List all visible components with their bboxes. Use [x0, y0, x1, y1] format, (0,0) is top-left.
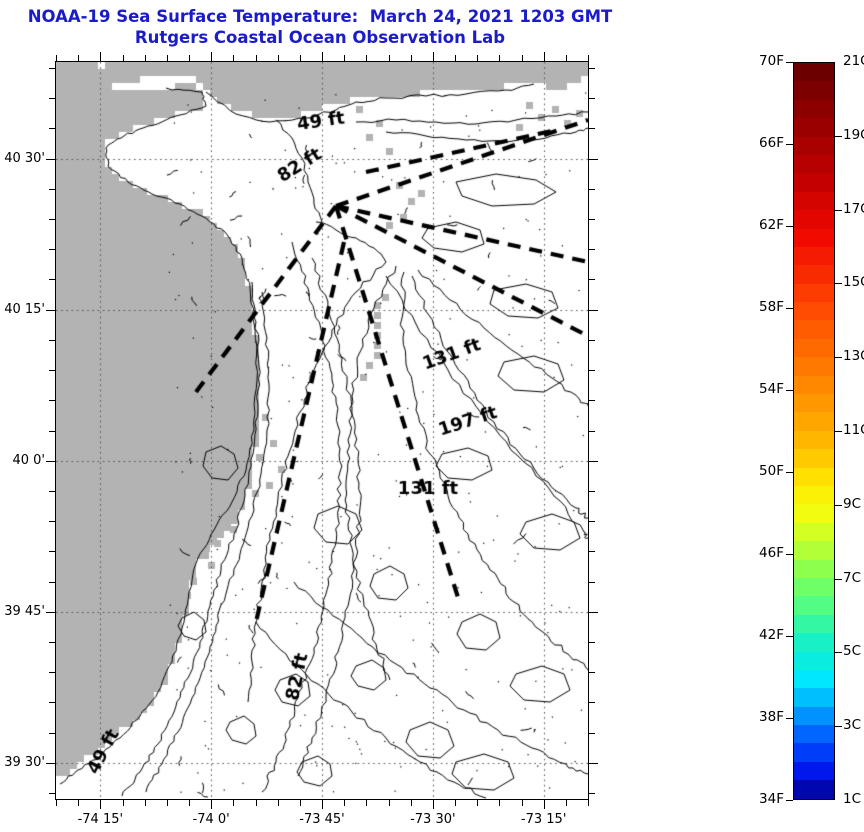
colorbar-label-celsius: 17C: [843, 201, 864, 217]
colorbar-tick: [786, 390, 793, 391]
x-axis-tick: [211, 800, 212, 809]
colorbar-label-fahrenheit: 42F: [738, 627, 784, 643]
y-axis-tick: [46, 461, 55, 462]
colorbar-band: [794, 541, 834, 559]
colorbar-label-fahrenheit: 54F: [738, 381, 784, 397]
colorbar-label-fahrenheit: 66F: [738, 135, 784, 151]
x-axis-tick: [189, 55, 190, 61]
x-axis-tick: [233, 55, 234, 61]
y-axis-tick: [49, 521, 55, 522]
colorbar-band: [794, 229, 834, 247]
colorbar-band: [794, 468, 834, 486]
colorbar-tick: [835, 431, 842, 432]
y-axis-tick: [49, 279, 55, 280]
x-axis-tick: [433, 800, 434, 809]
colorbar-label-celsius: 1C: [843, 791, 861, 807]
y-axis-tick: [49, 642, 55, 643]
colorbar-band: [794, 173, 834, 191]
x-axis-label: -74 15': [55, 812, 145, 827]
x-axis-tick: [56, 800, 57, 806]
y-axis-tick: [46, 763, 55, 764]
colorbar-band: [794, 339, 834, 357]
colorbar-band: [794, 63, 834, 81]
y-axis-tick: [49, 733, 55, 734]
colorbar-label-fahrenheit: 46F: [738, 545, 784, 561]
colorbar-band: [794, 247, 834, 265]
colorbar-tick: [835, 505, 842, 506]
y-axis-tick: [589, 582, 595, 583]
y-axis-label: 39 45': [0, 604, 45, 619]
colorbar-band: [794, 100, 834, 118]
colorbar-band: [794, 210, 834, 228]
y-axis-tick: [589, 370, 595, 371]
colorbar-band: [794, 596, 834, 614]
colorbar-label-celsius: 7C: [843, 570, 861, 586]
colorbar-band: [794, 155, 834, 173]
x-axis-tick: [322, 52, 323, 61]
colorbar-label-celsius: 9C: [843, 496, 861, 512]
colorbar-tick: [786, 800, 793, 801]
colorbar-band: [794, 265, 834, 283]
colorbar-label-celsius: 15C: [843, 274, 864, 290]
colorbar-band: [794, 725, 834, 743]
map-canvas: [56, 62, 588, 799]
y-axis-label: 40 15': [0, 302, 45, 317]
y-axis-tick: [589, 310, 598, 311]
colorbar-tick: [786, 308, 793, 309]
title-line-2: Rutgers Coastal Ocean Observation Lab: [0, 27, 640, 48]
colorbar-band: [794, 284, 834, 302]
colorbar-tick: [835, 136, 842, 137]
colorbar-gradient: [794, 63, 834, 799]
y-axis-tick: [589, 793, 595, 794]
colorbar-band: [794, 615, 834, 633]
colorbar-label-fahrenheit: 70F: [738, 53, 784, 69]
y-axis-tick: [589, 189, 595, 190]
colorbar-label-celsius: 19C: [843, 127, 864, 143]
colorbar-tick: [835, 726, 842, 727]
x-axis-tick: [100, 800, 101, 809]
x-axis-tick: [499, 800, 500, 806]
y-axis-tick: [589, 491, 595, 492]
y-axis-tick: [589, 521, 595, 522]
colorbar-band: [794, 431, 834, 449]
colorbar-band: [794, 357, 834, 375]
x-axis-label: -74 0': [166, 812, 256, 827]
colorbar-tick: [835, 283, 842, 284]
x-axis-tick: [344, 55, 345, 61]
x-axis-tick: [278, 800, 279, 806]
page-title: NOAA-19 Sea Surface Temperature: March 2…: [0, 6, 640, 48]
colorbar-band: [794, 743, 834, 761]
colorbar-band: [794, 376, 834, 394]
y-axis-tick: [49, 249, 55, 250]
y-axis-tick: [589, 461, 598, 462]
x-axis-tick: [78, 55, 79, 61]
x-axis-tick: [123, 55, 124, 61]
colorbar-label-celsius: 13C: [843, 348, 864, 364]
y-axis-tick: [589, 340, 595, 341]
y-axis-tick: [46, 159, 55, 160]
x-axis-tick: [123, 800, 124, 806]
x-axis-tick: [145, 55, 146, 61]
x-axis-tick: [278, 55, 279, 61]
colorbar-label-fahrenheit: 58F: [738, 299, 784, 315]
x-axis-tick: [233, 800, 234, 806]
colorbar-band: [794, 486, 834, 504]
x-axis-tick: [300, 800, 301, 806]
x-axis-tick: [499, 55, 500, 61]
colorbar-band: [794, 320, 834, 338]
y-axis-tick: [49, 400, 55, 401]
x-axis-label: -73 30': [388, 812, 478, 827]
x-axis-tick: [256, 800, 257, 806]
y-axis-tick: [49, 98, 55, 99]
colorbar-tick: [786, 718, 793, 719]
y-axis-tick: [589, 763, 598, 764]
colorbar-tick: [835, 210, 842, 211]
temperature-colorbar: [793, 62, 835, 800]
x-axis-tick: [433, 52, 434, 61]
y-axis-tick: [49, 189, 55, 190]
x-axis-tick: [477, 55, 478, 61]
y-axis-tick: [49, 219, 55, 220]
colorbar-band: [794, 118, 834, 136]
colorbar-label-fahrenheit: 50F: [738, 463, 784, 479]
y-axis-label: 40 30': [0, 151, 45, 166]
colorbar-label-celsius: 5C: [843, 643, 861, 659]
colorbar-tick: [786, 472, 793, 473]
colorbar-band: [794, 504, 834, 522]
y-axis-tick: [589, 672, 595, 673]
colorbar-band: [794, 560, 834, 578]
x-axis-tick: [189, 800, 190, 806]
x-axis-tick: [588, 800, 589, 806]
y-axis-tick: [589, 400, 595, 401]
colorbar-band: [794, 81, 834, 99]
colorbar-tick: [786, 62, 793, 63]
y-axis-tick: [589, 159, 598, 160]
colorbar-label-celsius: 11C: [843, 422, 864, 438]
y-axis-label: 40 0': [0, 453, 45, 468]
x-axis-label: -73 15': [499, 812, 589, 827]
colorbar-tick: [786, 144, 793, 145]
y-axis-tick: [589, 642, 595, 643]
y-axis-tick: [49, 582, 55, 583]
x-axis-tick: [366, 800, 367, 806]
y-axis-tick: [49, 793, 55, 794]
y-axis-tick: [49, 340, 55, 341]
y-axis-tick: [49, 431, 55, 432]
x-axis-tick: [167, 800, 168, 806]
colorbar-tick: [786, 226, 793, 227]
x-axis-tick: [477, 800, 478, 806]
colorbar-label-fahrenheit: 34F: [738, 791, 784, 807]
x-axis-tick: [78, 800, 79, 806]
y-axis-tick: [589, 128, 595, 129]
y-axis-tick: [49, 128, 55, 129]
x-axis-tick: [366, 55, 367, 61]
x-axis-tick: [167, 55, 168, 61]
colorbar-tick: [835, 652, 842, 653]
colorbar-tick: [835, 357, 842, 358]
colorbar-band: [794, 688, 834, 706]
sst-map-plot[interactable]: [55, 61, 589, 800]
y-axis-tick: [46, 310, 55, 311]
x-axis-tick: [322, 800, 323, 809]
colorbar-label-fahrenheit: 38F: [738, 709, 784, 725]
y-axis-tick: [49, 702, 55, 703]
x-axis-tick: [411, 800, 412, 806]
x-axis-tick: [455, 800, 456, 806]
x-axis-tick: [145, 800, 146, 806]
x-axis-tick: [256, 55, 257, 61]
colorbar-label-fahrenheit: 62F: [738, 217, 784, 233]
colorbar-band: [794, 302, 834, 320]
x-axis-tick: [389, 55, 390, 61]
colorbar-band: [794, 394, 834, 412]
y-axis-tick: [589, 68, 595, 69]
y-axis-label: 39 30': [0, 755, 45, 770]
colorbar-band: [794, 578, 834, 596]
x-axis-tick: [522, 55, 523, 61]
x-axis-tick: [344, 800, 345, 806]
colorbar-tick: [835, 579, 842, 580]
y-axis-tick: [49, 370, 55, 371]
y-axis-tick: [589, 551, 595, 552]
title-line-1: NOAA-19 Sea Surface Temperature: March 2…: [0, 6, 640, 27]
colorbar-tick: [786, 554, 793, 555]
x-axis-tick: [522, 800, 523, 806]
y-axis-tick: [589, 219, 595, 220]
x-axis-tick: [455, 55, 456, 61]
colorbar-band: [794, 412, 834, 430]
y-axis-tick: [589, 733, 595, 734]
y-axis-tick: [49, 491, 55, 492]
y-axis-tick: [589, 431, 595, 432]
colorbar-band: [794, 137, 834, 155]
colorbar-band: [794, 192, 834, 210]
x-axis-tick: [211, 52, 212, 61]
colorbar-label-celsius: 3C: [843, 717, 861, 733]
colorbar-band: [794, 762, 834, 780]
x-axis-tick: [300, 55, 301, 61]
colorbar-band: [794, 707, 834, 725]
x-axis-tick: [588, 55, 589, 61]
y-axis-tick: [49, 68, 55, 69]
colorbar-band: [794, 652, 834, 670]
colorbar-band: [794, 633, 834, 651]
colorbar-label-celsius: 21C: [843, 53, 864, 69]
y-axis-tick: [49, 672, 55, 673]
y-axis-tick: [46, 612, 55, 613]
y-axis-tick: [589, 279, 595, 280]
y-axis-tick: [589, 98, 595, 99]
colorbar-tick: [786, 636, 793, 637]
x-axis-tick: [100, 52, 101, 61]
x-axis-tick: [411, 55, 412, 61]
colorbar-band: [794, 449, 834, 467]
colorbar-band: [794, 523, 834, 541]
colorbar-band: [794, 780, 834, 798]
y-axis-tick: [49, 551, 55, 552]
colorbar-band: [794, 670, 834, 688]
x-axis-tick: [566, 55, 567, 61]
x-axis-tick: [56, 55, 57, 61]
x-axis-tick: [544, 52, 545, 61]
x-axis-tick: [544, 800, 545, 809]
x-axis-label: -73 45': [277, 812, 367, 827]
y-axis-tick: [589, 612, 598, 613]
y-axis-tick: [589, 702, 595, 703]
x-axis-tick: [566, 800, 567, 806]
x-axis-tick: [389, 800, 390, 806]
y-axis-tick: [589, 249, 595, 250]
